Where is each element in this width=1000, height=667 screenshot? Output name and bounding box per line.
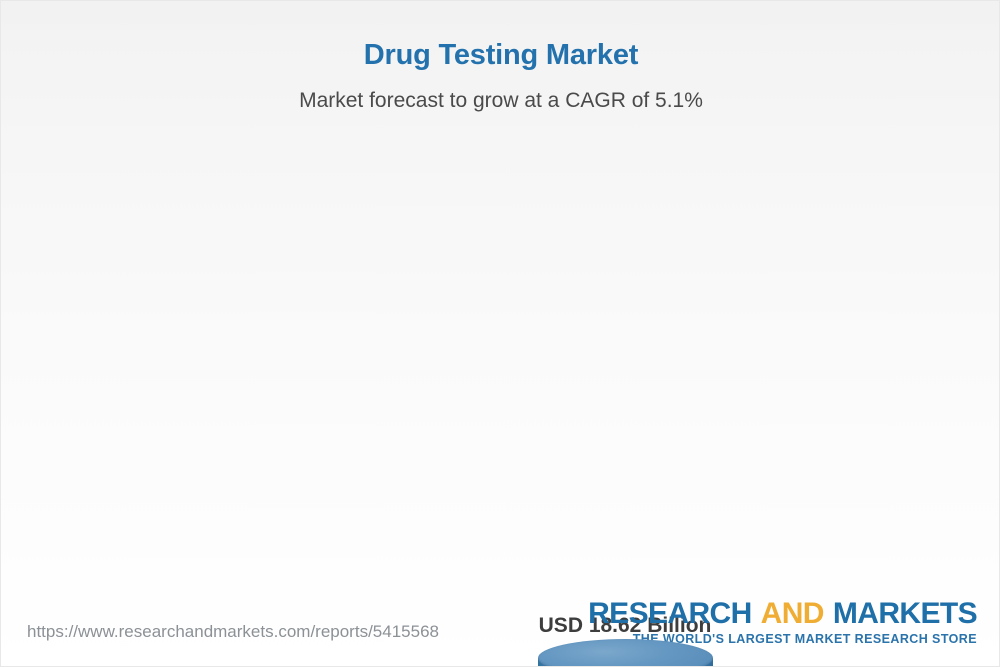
logo-word-markets: MARKETS [833, 597, 977, 630]
logo-wordmark: RESEARCHANDMARKETS [588, 599, 977, 630]
chart-title: Drug Testing Market [1, 39, 1000, 72]
plot-area: USD 13.91 Billion 2024 USD 18.62 Billion [1, 131, 1000, 581]
logo-word-research: RESEARCH [588, 597, 752, 630]
cylinder-bar-2030 [538, 658, 713, 667]
logo-word-and: AND [761, 597, 824, 630]
chart-infographic: Drug Testing Market Market forecast to g… [0, 0, 1000, 667]
chart-subtitle: Market forecast to grow at a CAGR of 5.1… [1, 89, 1000, 113]
bar-segment-growth-2030 [538, 658, 713, 667]
source-url[interactable]: https://www.researchandmarkets.com/repor… [27, 622, 439, 642]
